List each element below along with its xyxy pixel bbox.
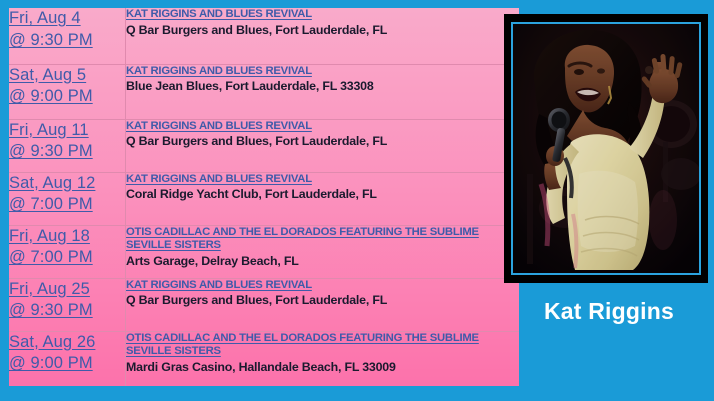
- table-row: Sat, Aug 12 @ 7:00 PM KAT RIGGINS AND BL…: [9, 172, 519, 225]
- event-cell: KAT RIGGINS AND BLUES REVIVAL Q Bar Burg…: [126, 119, 520, 172]
- date-line-time: @ 9:30 PM: [9, 141, 125, 163]
- artist-photo: [513, 24, 699, 273]
- event-title-link[interactable]: OTIS CADILLAC AND THE EL DORADOS FEATURI…: [126, 226, 519, 254]
- date-line-primary: Sat, Aug 12: [9, 173, 125, 195]
- event-title-link[interactable]: KAT RIGGINS AND BLUES REVIVAL: [126, 173, 519, 187]
- table-row: Fri, Aug 25 @ 9:30 PM KAT RIGGINS AND BL…: [9, 278, 519, 331]
- event-cell: OTIS CADILLAC AND THE EL DORADOS FEATURI…: [126, 225, 520, 278]
- event-title-link[interactable]: KAT RIGGINS AND BLUES REVIVAL: [126, 279, 519, 293]
- poster-root: Fri, Aug 4 @ 9:30 PM KAT RIGGINS AND BLU…: [0, 0, 714, 401]
- table-row: Sat, Aug 26 @ 9:00 PM OTIS CADILLAC AND …: [9, 331, 519, 386]
- schedule-table-body: Fri, Aug 4 @ 9:30 PM KAT RIGGINS AND BLU…: [9, 8, 519, 386]
- event-venue: Coral Ridge Yacht Club, Fort Lauderdale,…: [126, 187, 519, 202]
- date-line-time: @ 9:00 PM: [9, 353, 125, 375]
- date-line-time: @ 7:00 PM: [9, 194, 125, 216]
- event-cell: OTIS CADILLAC AND THE EL DORADOS FEATURI…: [126, 331, 520, 386]
- schedule-table: Fri, Aug 4 @ 9:30 PM KAT RIGGINS AND BLU…: [9, 8, 519, 386]
- date-line-primary: Fri, Aug 25: [9, 279, 125, 301]
- date-line-time: @ 7:00 PM: [9, 247, 125, 269]
- event-venue: Q Bar Burgers and Blues, Fort Lauderdale…: [126, 293, 519, 308]
- artist-name: Kat Riggins: [504, 298, 714, 325]
- event-venue: Q Bar Burgers and Blues, Fort Lauderdale…: [126, 23, 519, 38]
- date-line-primary: Sat, Aug 26: [9, 332, 125, 354]
- date-cell: Sat, Aug 26 @ 9:00 PM: [9, 331, 126, 386]
- event-venue: Arts Garage, Delray Beach, FL: [126, 254, 519, 269]
- date-line-primary: Fri, Aug 11: [9, 120, 125, 142]
- date-line-time: @ 9:30 PM: [9, 300, 125, 322]
- table-row: Fri, Aug 18 @ 7:00 PM OTIS CADILLAC AND …: [9, 225, 519, 278]
- date-line-primary: Fri, Aug 18: [9, 226, 125, 248]
- date-line-primary: Sat, Aug 5: [9, 65, 125, 87]
- event-cell: KAT RIGGINS AND BLUES REVIVAL Coral Ridg…: [126, 172, 520, 225]
- date-cell: Sat, Aug 5 @ 9:00 PM: [9, 64, 126, 119]
- event-title-link[interactable]: KAT RIGGINS AND BLUES REVIVAL: [126, 8, 519, 22]
- table-row: Fri, Aug 4 @ 9:30 PM KAT RIGGINS AND BLU…: [9, 8, 519, 64]
- date-cell: Fri, Aug 4 @ 9:30 PM: [9, 8, 126, 64]
- artist-photo-inner-border: [511, 22, 701, 275]
- date-line-primary: Fri, Aug 4: [9, 8, 125, 30]
- event-cell: KAT RIGGINS AND BLUES REVIVAL Blue Jean …: [126, 64, 520, 119]
- event-title-link[interactable]: KAT RIGGINS AND BLUES REVIVAL: [126, 120, 519, 134]
- table-row: Fri, Aug 11 @ 9:30 PM KAT RIGGINS AND BL…: [9, 119, 519, 172]
- date-cell: Fri, Aug 18 @ 7:00 PM: [9, 225, 126, 278]
- event-title-link[interactable]: KAT RIGGINS AND BLUES REVIVAL: [126, 65, 519, 79]
- artist-photo-illustration: [513, 24, 699, 273]
- artist-panel: Kat Riggins: [504, 0, 714, 401]
- date-line-time: @ 9:00 PM: [9, 86, 125, 108]
- event-venue: Blue Jean Blues, Fort Lauderdale, FL 333…: [126, 79, 519, 94]
- artist-photo-frame: [504, 14, 708, 283]
- event-cell: KAT RIGGINS AND BLUES REVIVAL Q Bar Burg…: [126, 278, 520, 331]
- event-venue: Q Bar Burgers and Blues, Fort Lauderdale…: [126, 134, 519, 149]
- event-cell: KAT RIGGINS AND BLUES REVIVAL Q Bar Burg…: [126, 8, 520, 64]
- date-line-time: @ 9:30 PM: [9, 30, 125, 52]
- table-row: Sat, Aug 5 @ 9:00 PM KAT RIGGINS AND BLU…: [9, 64, 519, 119]
- event-venue: Mardi Gras Casino, Hallandale Beach, FL …: [126, 360, 519, 375]
- date-cell: Sat, Aug 12 @ 7:00 PM: [9, 172, 126, 225]
- date-cell: Fri, Aug 25 @ 9:30 PM: [9, 278, 126, 331]
- event-title-link[interactable]: OTIS CADILLAC AND THE EL DORADOS FEATURI…: [126, 332, 519, 360]
- date-cell: Fri, Aug 11 @ 9:30 PM: [9, 119, 126, 172]
